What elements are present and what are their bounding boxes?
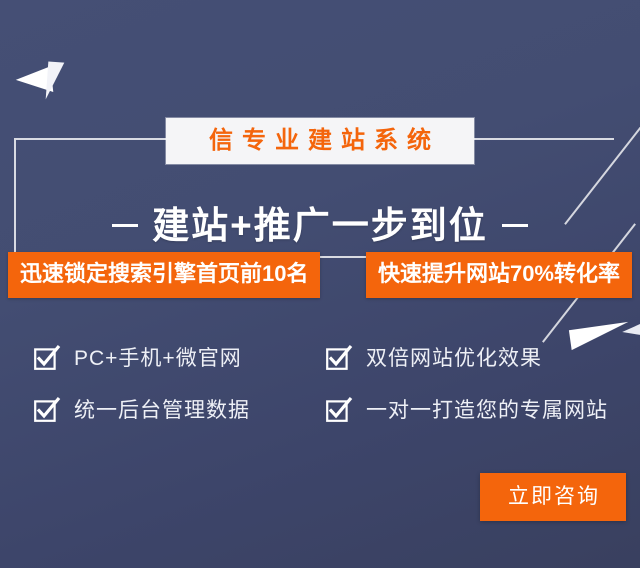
highlight-strips: 迅速锁定搜索引擎首页前10名 快速提升网站70%转化率 — [0, 252, 640, 298]
checkbox-checked-icon — [34, 398, 58, 422]
feature-label: 双倍网站优化效果 — [366, 348, 542, 369]
feature-list: PC+手机+微官网 双倍网站优化效果 统一后台管理数据 — [34, 332, 614, 436]
checkbox-checked-icon — [326, 346, 350, 370]
page-title: 建站+推广一步到位 — [152, 205, 488, 246]
badge-label: 信专业建站系统 — [166, 118, 474, 164]
feature-item-custom-site: 一对一打造您的专属网站 — [326, 398, 614, 422]
feature-label: 统一后台管理数据 — [74, 400, 250, 421]
feature-label: 一对一打造您的专属网站 — [366, 400, 608, 421]
feature-label: PC+手机+微官网 — [74, 348, 242, 369]
badge-container: 信专业建站系统 — [0, 118, 640, 164]
feature-item-multi-platform: PC+手机+微官网 — [34, 346, 326, 370]
highlight-strip-seo: 迅速锁定搜索引擎首页前10名 — [8, 252, 320, 298]
highlight-strip-conversion: 快速提升网站70%转化率 — [366, 252, 632, 298]
promo-banner: 信专业建站系统 建站+推广一步到位 迅速锁定搜索引擎首页前10名 快速提升网站7… — [0, 0, 640, 568]
feature-item-double-seo: 双倍网站优化效果 — [326, 346, 614, 370]
headline-rule-left — [112, 224, 138, 227]
paper-plane-top-left-icon — [16, 62, 76, 110]
headline-rule-right — [502, 224, 528, 227]
checkbox-checked-icon — [326, 398, 350, 422]
feature-item-unified-admin: 统一后台管理数据 — [34, 398, 326, 422]
checkbox-checked-icon — [34, 346, 58, 370]
consult-now-button[interactable]: 立即咨询 — [480, 473, 626, 521]
